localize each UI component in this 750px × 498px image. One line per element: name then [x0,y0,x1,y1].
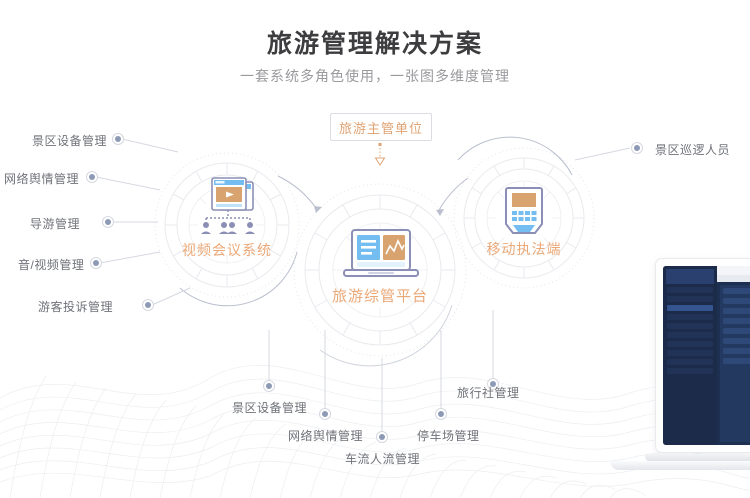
dashboard-tree-row [723,328,750,334]
dashboard-menu-item [667,359,713,365]
dashboard-tree-row [723,338,750,344]
dashboard-menu-item [667,314,713,320]
dashboard-toolbar [717,266,750,275]
connector-arcs [278,176,468,212]
video-conference-icon [193,176,263,238]
bottom-label-0[interactable]: 景区设备管理 [232,399,307,416]
node-label-mobile-enforcement: 移动执法端 [469,239,579,259]
laptop-deck [610,461,750,470]
dashboard-body [717,282,750,445]
bottom-label-1[interactable]: 网络舆情管理 [288,427,363,444]
dashboard-menu-item [667,332,713,338]
left-label-3[interactable]: 音/视频管理 [18,256,84,273]
laptop-dashboard-icon [338,228,424,286]
dashboard-menu-item [667,323,713,329]
dashboard-preview [663,266,750,445]
dashboard-menu-item [667,296,713,302]
arrow-tip-left [314,206,322,213]
node-label-video-conference: 视频会议系统 [167,240,287,260]
dashboard-tree-panel [720,285,750,442]
dashboard-menu-item [667,368,713,374]
dashboard-tree-row [723,358,750,364]
bottom-label-2[interactable]: 车流人流管理 [345,450,420,467]
dashboard-subtoolbar [717,275,750,282]
dashboard-tree-row [723,318,750,324]
left-label-1[interactable]: 网络舆情管理 [4,170,79,187]
node-label-tourism-platform: 旅游综管平台 [320,285,440,306]
dashboard-menu-item [667,341,713,347]
dashboard-main [717,266,750,445]
left-label-4[interactable]: 游客投诉管理 [38,298,113,315]
dashboard-menu-item [667,305,713,311]
dashboard-tree-row [723,348,750,354]
authority-arrow-icon [376,143,385,165]
dashboard-menu-item [667,350,713,356]
laptop-screen [655,258,750,453]
left-label-2[interactable]: 导游管理 [30,215,80,232]
bottom-label-4[interactable]: 旅行社管理 [457,384,520,401]
handheld-terminal-icon [501,184,547,244]
dashboard-menu-item [667,287,713,293]
dashboard-tree-row [723,308,750,314]
dashboard-tree-row [723,298,750,304]
solution-diagram-page: 旅游管理解决方案 一套系统多角色使用，一张图多维度管理 旅游主管单位 [0,0,750,498]
right-label-0[interactable]: 景区巡逻人员 [655,141,730,158]
right-connector-dots [632,143,643,154]
arrow-tip-right [436,209,444,216]
dashboard-brand [666,269,714,284]
dashboard-sidebar [663,266,717,445]
right-connectors [575,148,630,160]
bottom-label-3[interactable]: 停车场管理 [417,427,480,444]
dashboard-tree-row [723,288,750,294]
left-label-0[interactable]: 景区设备管理 [32,132,107,149]
